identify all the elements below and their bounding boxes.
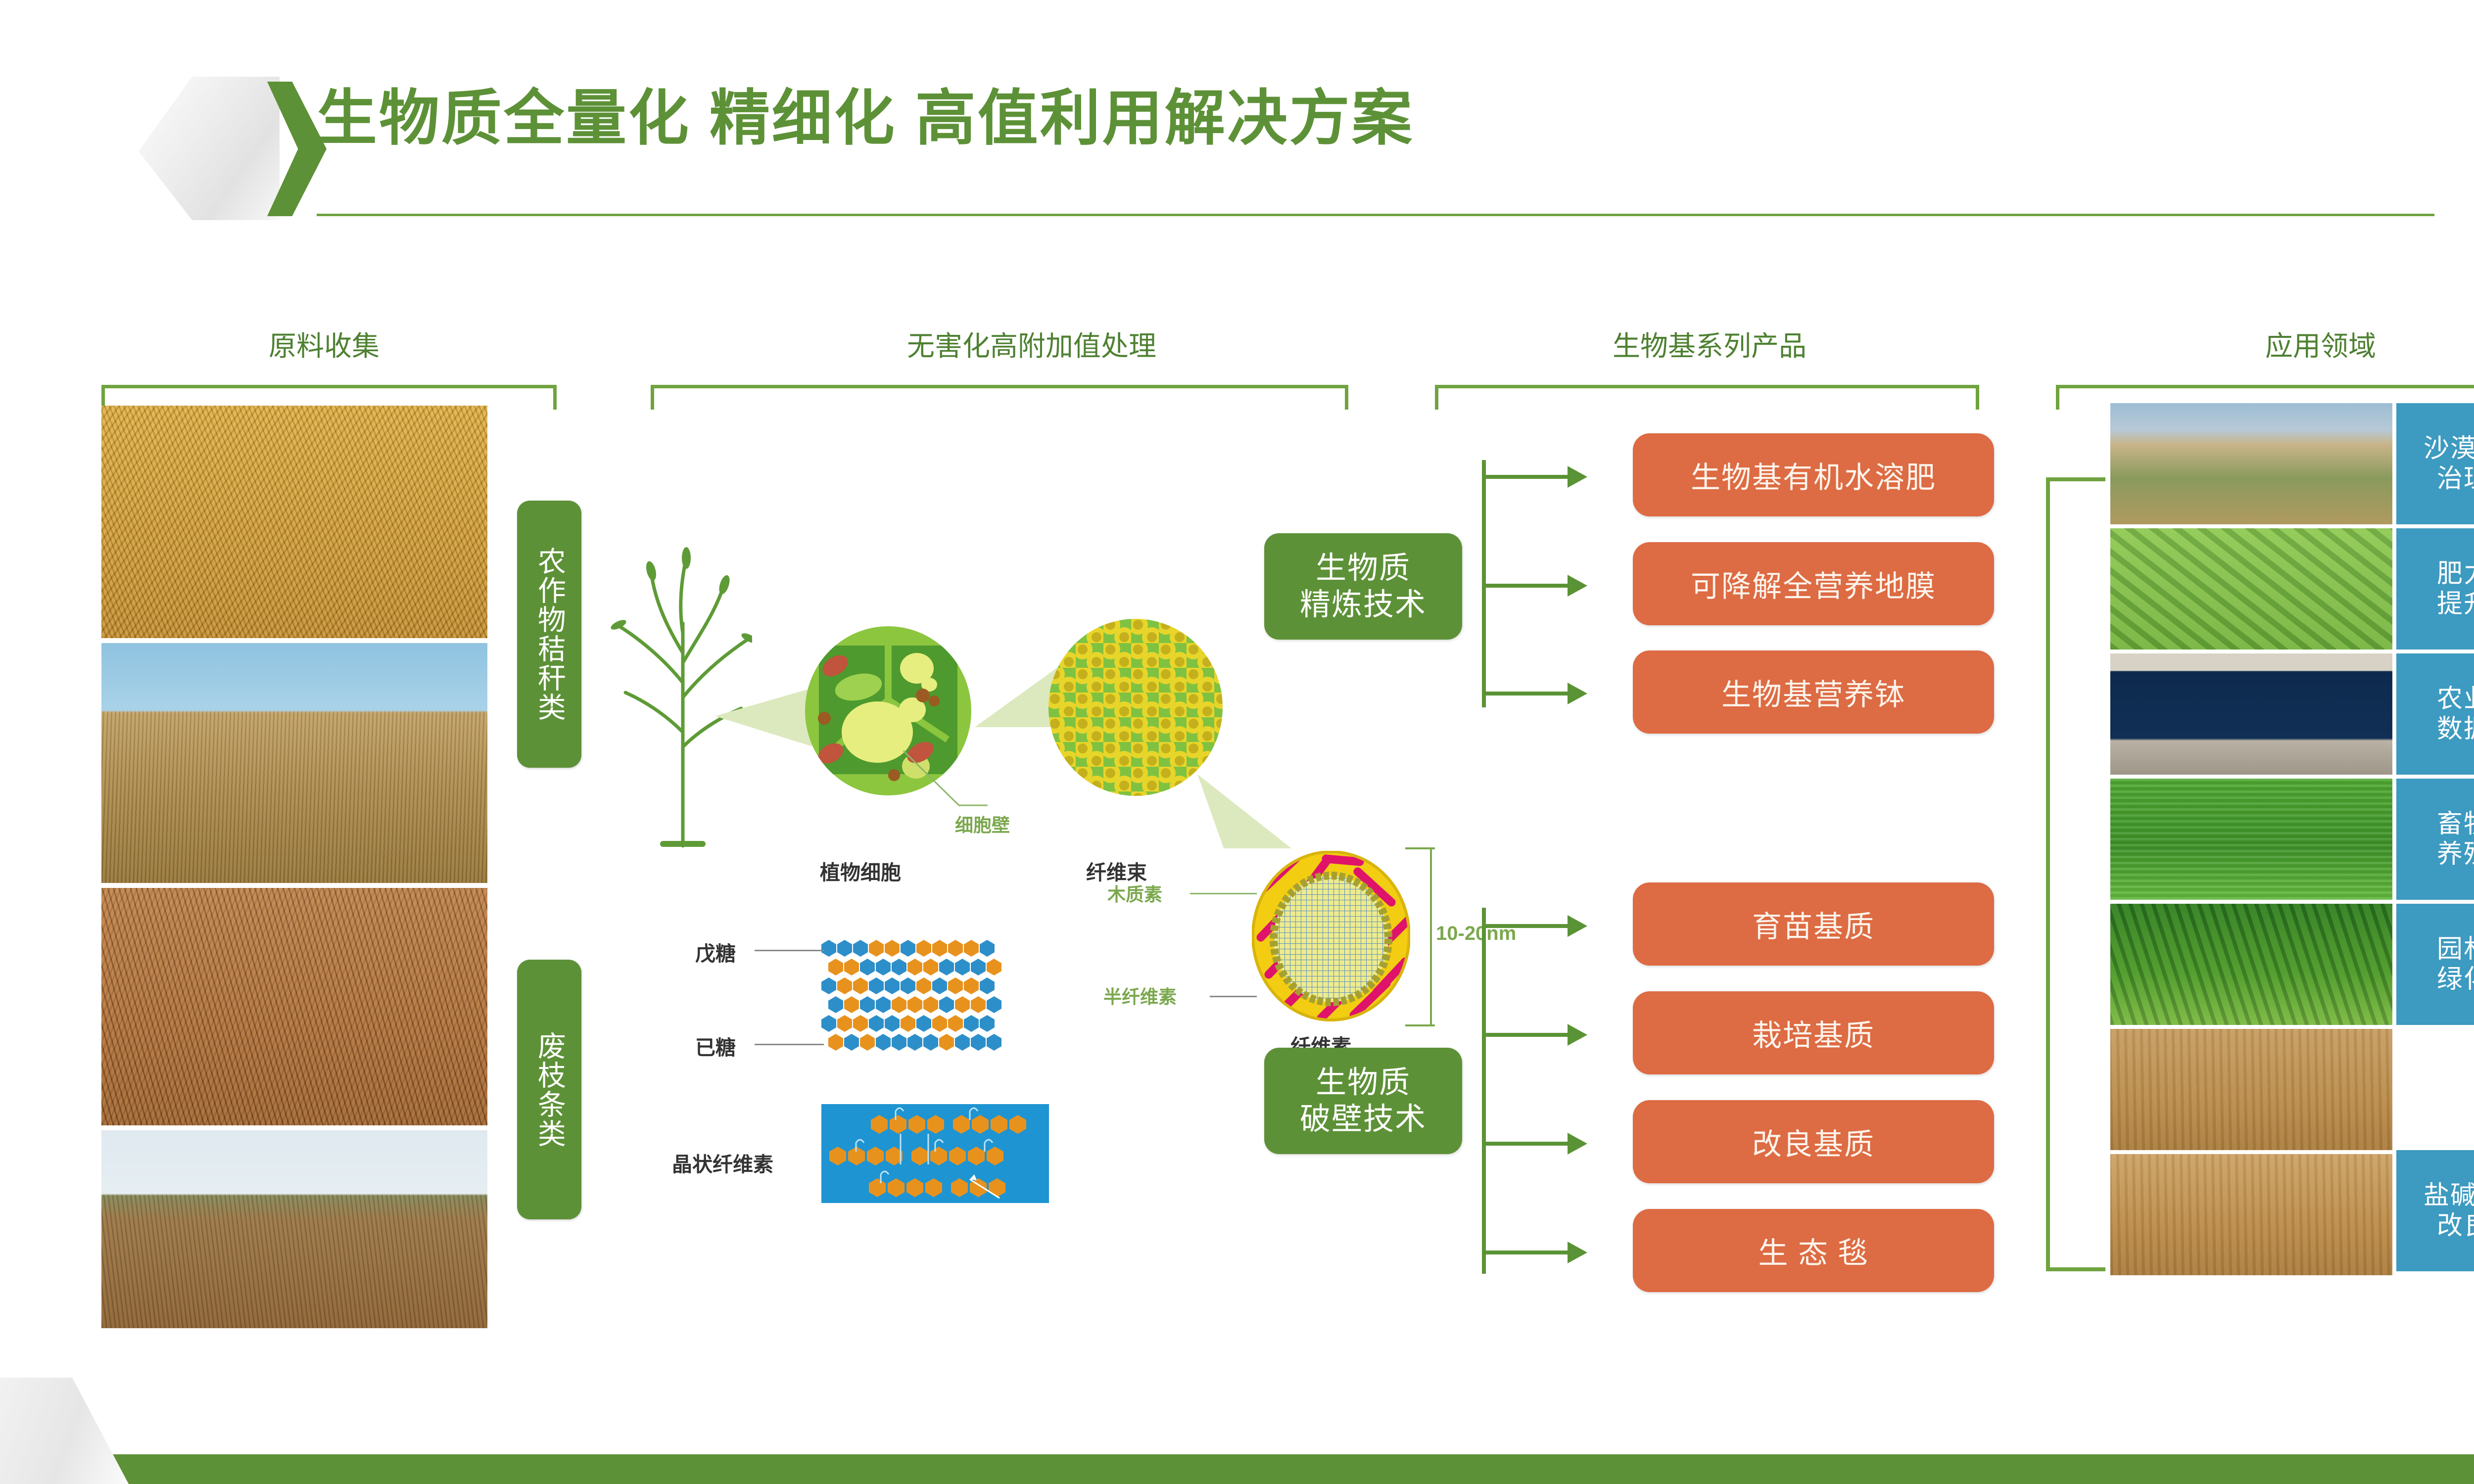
section-title-feedstock: 原料收集 — [269, 324, 380, 364]
bottom-accent-bar — [0, 1454, 2474, 1484]
hexose-unit-icon — [964, 977, 979, 994]
pentose-unit-icon — [980, 1015, 995, 1032]
hexose-unit-icon — [828, 959, 843, 975]
pentose-unit-icon — [971, 959, 986, 975]
section-title-products: 生物基系列产品 — [1613, 324, 1807, 364]
pentose-unit-icon — [892, 959, 906, 975]
sugar-chain-row — [828, 959, 1001, 975]
sugar-chain-row — [828, 996, 1001, 1013]
app-label-desert-line1: 沙漠化 — [2424, 434, 2474, 463]
hexose-unit-icon — [948, 1015, 963, 1032]
hexose-unit-icon — [837, 977, 852, 994]
tech-box-cell-wall-breaking[interactable]: 生物质 破壁技术 — [1264, 1048, 1462, 1154]
fiber-bundle-diagram — [1048, 618, 1224, 796]
hexagon-shape — [139, 77, 280, 220]
hexose-unit-icon — [923, 959, 938, 975]
pentose-unit-icon — [885, 1015, 900, 1032]
app-label-landscaping-line1: 园林 — [2437, 935, 2474, 964]
hexose-unit-icon — [860, 1034, 875, 1051]
pentose-unit-icon — [939, 996, 954, 1013]
hexose-unit-icon — [885, 940, 900, 957]
pentose-unit-icon — [901, 977, 915, 994]
pentose-unit-icon — [971, 1034, 986, 1051]
pentose-unit-icon — [869, 1015, 884, 1032]
hexose-unit-icon — [971, 996, 986, 1013]
feedstock-category-crop-straw: 农作物秸秆类 — [517, 501, 581, 768]
application-photo-livestock — [2110, 779, 2392, 900]
app-label-desert-line2: 治理 — [2437, 464, 2474, 493]
hexose-unit-icon — [853, 977, 868, 994]
feedstock-photo-vineyard — [101, 1130, 487, 1328]
arrow-icon-breaking-2 — [1568, 1024, 1587, 1046]
label-cell-wall: 细胞壁 — [955, 810, 1010, 837]
hexose-unit-icon — [987, 959, 1001, 975]
label-crystalline-cellulose: 晶状纤维素 — [672, 1148, 773, 1177]
product-box-degradable-mulch-film[interactable]: 可降解全营养地膜 — [1633, 542, 1994, 625]
sugar-chain-row — [821, 1015, 995, 1032]
pentose-unit-icon — [955, 959, 970, 975]
application-label-agri-data: 农业数据 — [2396, 653, 2474, 775]
pentose-unit-icon — [901, 940, 915, 957]
application-label-saline-alkali: 盐碱地改良 — [2396, 1150, 2474, 1271]
pentose-unit-icon — [907, 1034, 922, 1051]
hexose-unit-icon — [907, 959, 922, 975]
connector-trunk-breaking — [1482, 908, 1486, 1274]
application-label-livestock: 畜牧养殖 — [2396, 779, 2474, 900]
sugar-chain-row — [821, 940, 995, 957]
pentose-unit-icon — [932, 977, 947, 994]
pentose-leader-line — [755, 950, 824, 951]
hydrogen-bond-lines — [821, 1104, 1049, 1203]
hexose-unit-icon — [892, 996, 906, 1013]
sugar-lattice-diagram — [821, 940, 1049, 1064]
app-label-saline-line1: 盐碱地 — [2424, 1181, 2474, 1210]
pentose-unit-icon — [828, 996, 843, 1013]
pentose-unit-icon — [892, 1034, 906, 1051]
section-bracket-processing — [651, 385, 1348, 410]
magnify-cone-3 — [1197, 774, 1291, 848]
arrow-icon-breaking-4 — [1568, 1242, 1587, 1263]
sugar-chain-row — [821, 977, 995, 994]
label-plant-cell: 植物细胞 — [820, 856, 901, 885]
pentose-unit-icon — [821, 1015, 836, 1032]
page-title: 生物质全量化 精细化 高值利用解决方案 — [317, 88, 1414, 148]
hexose-unit-icon — [837, 1015, 852, 1032]
product-box-nutrient-pot[interactable]: 生物基营养钵 — [1633, 650, 1994, 734]
pentose-unit-icon — [876, 959, 891, 975]
connector-arm-breaking-3 — [1482, 1142, 1571, 1146]
tech-box-breaking-label: 生物质 破壁技术 — [1300, 1065, 1427, 1137]
section-title-processing: 无害化高附加值处理 — [907, 324, 1156, 364]
feedstock-photo-corn-stalk — [101, 406, 487, 638]
app-label-landscaping-line2: 绿化 — [2437, 965, 2474, 994]
plant-grass-icon — [609, 534, 752, 851]
applications-bracket — [2046, 477, 2105, 1271]
hexose-unit-icon — [901, 1015, 915, 1032]
connector-arm-breaking-2 — [1482, 1033, 1571, 1037]
pentose-unit-icon — [853, 940, 868, 957]
product-box-seedling-substrate[interactable]: 育苗基质 — [1633, 882, 1994, 966]
application-label-landscaping: 园林绿化 — [2396, 904, 2474, 1025]
tech-breaking-line2: 破壁技术 — [1300, 1102, 1427, 1136]
hexose-unit-icon — [916, 940, 931, 957]
arrow-icon-refining-1 — [1568, 466, 1587, 488]
pentose-unit-icon — [885, 977, 900, 994]
product-box-water-soluble-fertilizer[interactable]: 生物基有机水溶肥 — [1633, 433, 1994, 516]
arrow-icon-breaking-3 — [1568, 1133, 1587, 1155]
hexose-unit-icon — [932, 940, 947, 957]
pentose-unit-icon — [923, 1034, 938, 1051]
application-photo-desertification — [2110, 403, 2392, 524]
pentose-unit-icon — [869, 977, 884, 994]
pentose-unit-icon — [987, 1034, 1001, 1051]
arrow-icon-breaking-1 — [1568, 915, 1587, 937]
connector-arm-breaking-4 — [1482, 1251, 1571, 1254]
arrow-icon-refining-3 — [1568, 683, 1587, 704]
section-bracket-products — [1435, 385, 1979, 410]
connector-arm-refining-2 — [1482, 584, 1571, 588]
feedstock-category-waste-branches: 废枝条类 — [517, 960, 581, 1219]
sugar-chain-row — [828, 1034, 1001, 1051]
application-photo-saline-alkali — [2110, 1029, 2392, 1150]
app-label-livestock-line1: 畜牧 — [2437, 810, 2474, 838]
hexose-unit-icon — [964, 940, 979, 957]
pentose-unit-icon — [837, 940, 852, 957]
tech-refining-line1: 生物质 — [1316, 551, 1411, 585]
hexose-unit-icon — [916, 977, 931, 994]
app-label-livestock-line2: 养殖 — [2437, 840, 2474, 869]
label-hemicellulose: 半纤维素 — [1103, 982, 1177, 1009]
tech-breaking-line1: 生物质 — [1316, 1066, 1411, 1100]
hexose-unit-icon — [907, 996, 922, 1013]
pentose-unit-icon — [876, 996, 891, 1013]
label-hexose: 已糖 — [695, 1031, 736, 1061]
cellulose-cross-section-diagram — [1252, 851, 1410, 1021]
hexose-unit-icon — [948, 977, 963, 994]
hexose-unit-icon — [853, 1015, 868, 1032]
connector-arm-refining-1 — [1482, 475, 1571, 479]
pentose-unit-icon — [821, 977, 836, 994]
app-label-data-line2: 数据 — [2437, 715, 2474, 743]
pentose-unit-icon — [987, 996, 1001, 1013]
application-photo-saline-alkali-2 — [2110, 1154, 2392, 1275]
pentose-unit-icon — [916, 1015, 931, 1032]
hexose-unit-icon — [923, 996, 938, 1013]
pentose-unit-icon — [980, 940, 995, 957]
product-box-improvement-substrate[interactable]: 改良基质 — [1633, 1100, 1994, 1183]
tech-box-refining[interactable]: 生物质 精炼技术 — [1264, 533, 1462, 640]
hexose-unit-icon — [828, 1034, 843, 1051]
connector-arm-breaking-1 — [1482, 924, 1571, 928]
hexose-unit-icon — [869, 940, 884, 957]
label-lignin: 木质素 — [1107, 880, 1162, 906]
bottom-corner-decoration — [0, 1378, 129, 1484]
pentose-unit-icon — [955, 1034, 970, 1051]
application-photo-agri-data — [2110, 653, 2392, 775]
hexose-unit-icon — [932, 1015, 947, 1032]
app-label-data-line1: 农业 — [2437, 685, 2474, 713]
product-box-cultivation-substrate[interactable]: 栽培基质 — [1633, 991, 1994, 1074]
pentose-unit-icon — [860, 996, 875, 1013]
header-hexagon-decoration — [139, 77, 280, 220]
label-pentose: 戊糖 — [695, 937, 736, 967]
hexose-unit-icon — [955, 996, 970, 1013]
lignin-leader-line — [1190, 893, 1257, 894]
pentose-unit-icon — [939, 959, 954, 975]
hexose-leader-line — [755, 1044, 824, 1045]
tech-box-refining-label: 生物质 精炼技术 — [1300, 550, 1427, 622]
app-label-saline-line2: 改良 — [2437, 1211, 2474, 1240]
application-label-desertification: 沙漠化治理 — [2396, 403, 2474, 524]
application-photo-fertility — [2110, 528, 2392, 649]
section-title-applications: 应用领域 — [2265, 324, 2376, 364]
hemicellulose-leader-line — [1210, 996, 1257, 997]
product-box-ecological-blanket[interactable]: 生 态 毯 — [1633, 1209, 1994, 1292]
connector-arm-refining-3 — [1482, 692, 1571, 696]
application-photo-landscaping — [2110, 904, 2392, 1025]
feedstock-photo-branches — [101, 888, 487, 1125]
crystalline-cellulose-panel — [821, 1104, 1049, 1203]
title-divider — [317, 214, 2434, 216]
pentose-unit-icon — [844, 1034, 859, 1051]
app-label-fertility-line1: 肥力 — [2437, 559, 2474, 588]
hexose-unit-icon — [844, 959, 859, 975]
hexose-unit-icon — [844, 996, 859, 1013]
pentose-unit-icon — [964, 1015, 979, 1032]
arrow-icon-refining-2 — [1568, 575, 1587, 597]
pentose-unit-icon — [860, 959, 875, 975]
pentose-unit-icon — [821, 940, 836, 957]
hexose-unit-icon — [939, 1034, 954, 1051]
hexose-unit-icon — [948, 940, 963, 957]
app-label-fertility-line2: 提升 — [2437, 590, 2474, 618]
feedstock-photo-straw-bale — [101, 643, 487, 883]
pentose-unit-icon — [876, 1034, 891, 1051]
pentose-unit-icon — [980, 977, 995, 994]
tech-refining-line2: 精炼技术 — [1300, 588, 1427, 622]
application-label-fertility: 肥力提升 — [2396, 528, 2474, 649]
